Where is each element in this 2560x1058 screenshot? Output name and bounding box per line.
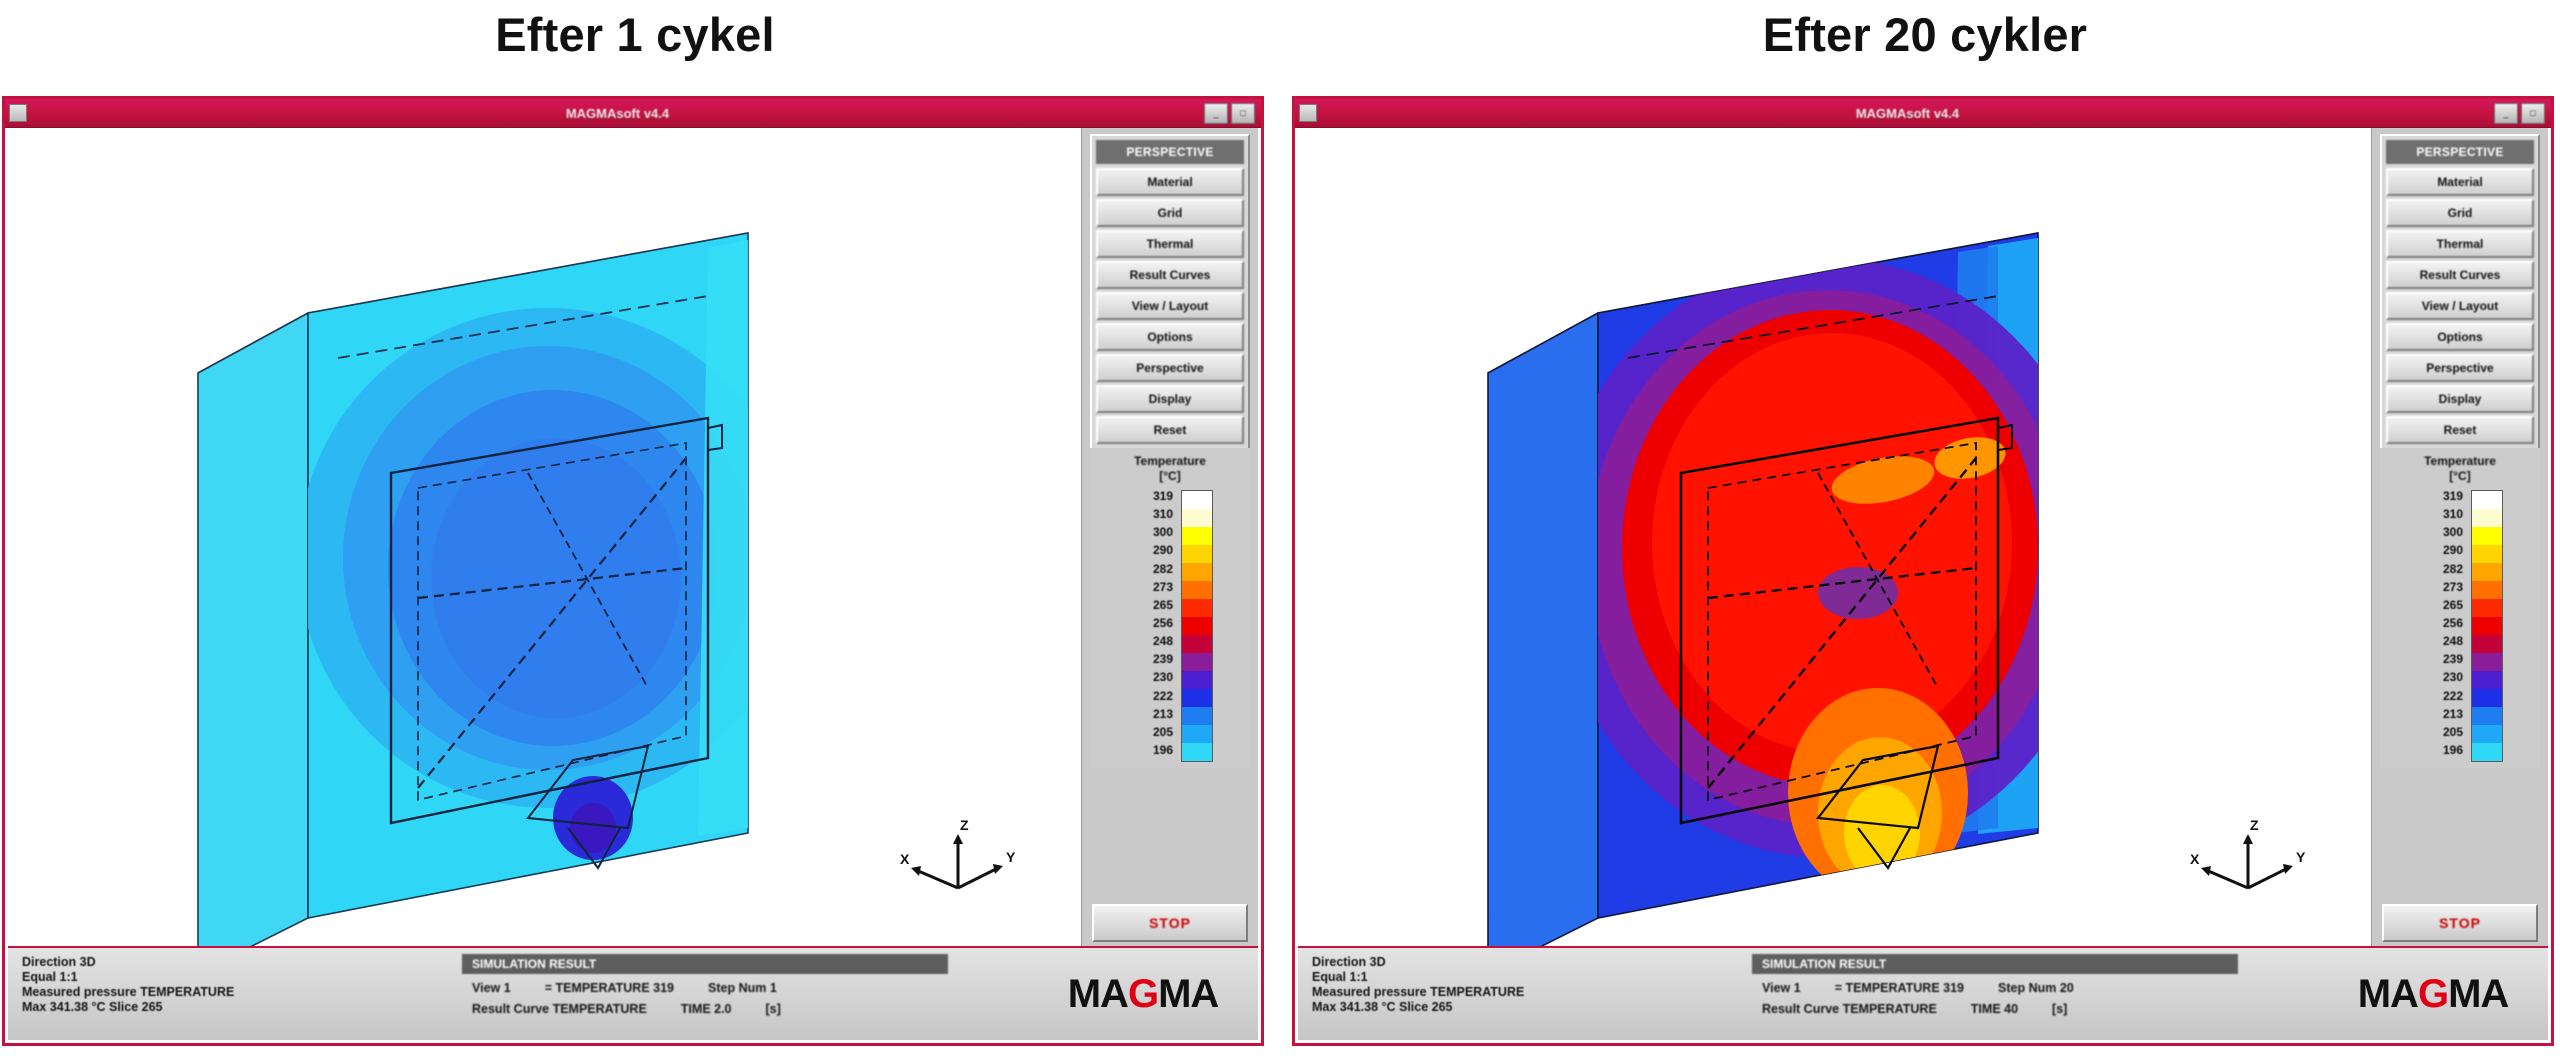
right-slide-caption: Efter 20 cykler xyxy=(1290,6,2560,64)
tool-column-right: PERSPECTIVE Material Grid Thermal Result… xyxy=(2371,128,2548,948)
legend-tick: 248 xyxy=(2417,635,2463,653)
menu-button-result-curves[interactable]: Result Curves xyxy=(1096,261,1244,289)
menu-panel-right: PERSPECTIVE Material Grid Thermal Result… xyxy=(2380,134,2540,455)
legend-tick: 248 xyxy=(1127,635,1173,653)
legend-color-segment xyxy=(1182,653,1212,671)
legend-color-segment xyxy=(2472,707,2502,725)
menu-button-material[interactable]: Material xyxy=(2386,168,2534,196)
slide-root: Efter 1 cykel Efter 20 cykler MAGMAsoft … xyxy=(0,0,2560,1058)
legend-tick: 282 xyxy=(2417,563,2463,581)
legend-color-segment xyxy=(1182,725,1212,743)
menu-button-view-layout[interactable]: View / Layout xyxy=(1096,292,1244,320)
svg-text:X: X xyxy=(2190,851,2200,867)
legend-tick: 205 xyxy=(2417,726,2463,744)
stop-button-label: STOP xyxy=(1149,915,1191,931)
menu-button-thermal[interactable]: Thermal xyxy=(2386,230,2534,258)
legend-color-segment xyxy=(2472,743,2502,761)
magma-window-right: MAGMAsoft v4.4 _ □ xyxy=(1292,96,2554,1046)
legend-tick-labels: 3193103002902822732652562482392302222132… xyxy=(2417,490,2463,762)
status-field: [s] xyxy=(2052,1002,2067,1016)
window-controls-left: _ □ xyxy=(1204,103,1255,124)
magma-window-left: MAGMAsoft v4.4 _ □ xyxy=(2,96,1264,1046)
logo-part-post: MA xyxy=(1158,972,1218,1017)
statusbar-right: Direction 3D Equal 1:1 Measured pressure… xyxy=(1298,946,2548,1040)
status-line: Max 341.38 °C Slice 265 xyxy=(22,1000,462,1015)
legend-colorbar xyxy=(2471,490,2503,762)
menu-panel-left: PERSPECTIVE Material Grid Thermal Result… xyxy=(1090,134,1250,455)
menu-button-perspective[interactable]: Perspective xyxy=(2386,354,2534,382)
status-field: Step Num 20 xyxy=(1998,981,2074,995)
magma-logo-right: MAGMA xyxy=(2318,948,2548,1040)
viewport-left[interactable]: Z X Y xyxy=(8,128,1080,958)
legend-color-segment xyxy=(2472,599,2502,617)
status-field: TIME 2.0 xyxy=(681,1002,732,1016)
temperature-contour-hot: Z X Y xyxy=(1298,128,2370,958)
logo-part-post: MA xyxy=(2448,972,2508,1017)
legend-color-segment xyxy=(2472,491,2502,509)
menu-button-result-curves[interactable]: Result Curves xyxy=(2386,261,2534,289)
window-title-left: MAGMAsoft v4.4 xyxy=(31,106,1204,121)
legend-tick: 222 xyxy=(1127,690,1173,708)
statusbar-result-right: SIMULATION RESULT View 1 = TEMPERATURE 3… xyxy=(1752,948,2318,1040)
legend-color-segment xyxy=(1182,563,1212,581)
legend-color-segment xyxy=(1182,545,1212,563)
legend-color-segment xyxy=(2472,527,2502,545)
menu-button-grid[interactable]: Grid xyxy=(1096,199,1244,227)
legend-tick: 213 xyxy=(2417,708,2463,726)
status-line: Direction 3D xyxy=(1312,955,1752,970)
minimize-icon[interactable]: _ xyxy=(2494,103,2518,124)
legend-title-line1: Temperature xyxy=(1094,454,1246,469)
statusbar-result-left: SIMULATION RESULT View 1 = TEMPERATURE 3… xyxy=(462,948,1028,1040)
magma-logo-left: MAGMA xyxy=(1028,948,1258,1040)
menu-button-reset[interactable]: Reset xyxy=(1096,416,1244,444)
svg-text:Z: Z xyxy=(2250,817,2259,833)
legend-tick: 239 xyxy=(1127,653,1173,671)
status-field: View 1 xyxy=(1762,981,1801,995)
menu-button-options[interactable]: Options xyxy=(2386,323,2534,351)
status-line: Measured pressure TEMPERATURE xyxy=(22,985,462,1000)
tool-column-left: PERSPECTIVE Material Grid Thermal Result… xyxy=(1081,128,1258,948)
legend-color-segment xyxy=(1182,671,1212,689)
svg-text:Y: Y xyxy=(2296,849,2306,865)
statusbar-info-left: Direction 3D Equal 1:1 Measured pressure… xyxy=(8,948,462,1040)
legend-tick: 205 xyxy=(1127,726,1173,744)
statusbar-row-1: View 1 = TEMPERATURE 319 Step Num 20 xyxy=(1752,981,2318,995)
legend-tick: 256 xyxy=(1127,617,1173,635)
legend-tick: 239 xyxy=(2417,653,2463,671)
titlebar-left[interactable]: MAGMAsoft v4.4 _ □ xyxy=(5,99,1261,128)
legend-tick: 230 xyxy=(2417,671,2463,689)
statusbar-section-title: SIMULATION RESULT xyxy=(1752,954,2238,974)
status-field: TIME 40 xyxy=(1971,1002,2018,1016)
left-slide-caption: Efter 1 cykel xyxy=(0,6,1270,64)
legend-tick: 300 xyxy=(1127,526,1173,544)
menu-button-perspective[interactable]: Perspective xyxy=(1096,354,1244,382)
legend-tick: 256 xyxy=(2417,617,2463,635)
statusbar-info-right: Direction 3D Equal 1:1 Measured pressure… xyxy=(1298,948,1752,1040)
legend-tick: 290 xyxy=(2417,544,2463,562)
legend-color-segment xyxy=(2472,617,2502,635)
menu-button-options[interactable]: Options xyxy=(1096,323,1244,351)
minimize-icon[interactable]: _ xyxy=(1204,103,1228,124)
legend-color-segment xyxy=(1182,491,1212,509)
legend-color-segment xyxy=(1182,581,1212,599)
color-legend-right: Temperature [°C] 31931030029028227326525… xyxy=(2380,448,2540,768)
menu-button-grid[interactable]: Grid xyxy=(2386,199,2534,227)
titlebar-right[interactable]: MAGMAsoft v4.4 _ □ xyxy=(1295,99,2551,128)
legend-color-segment xyxy=(1182,743,1212,761)
status-field: = TEMPERATURE 319 xyxy=(545,981,674,995)
legend-title-line2: [°C] xyxy=(2384,469,2536,484)
logo-part-pre: MA xyxy=(2358,972,2418,1017)
axis-triad-right: Z X Y xyxy=(2190,817,2306,888)
legend-tick: 265 xyxy=(2417,599,2463,617)
maximize-icon[interactable]: □ xyxy=(2521,103,2545,124)
temperature-contour-cool: Z X Y xyxy=(8,128,1080,958)
stop-button-right[interactable]: STOP xyxy=(2382,904,2538,942)
logo-part-highlight: G xyxy=(2418,972,2448,1017)
axis-triad-left: Z X Y xyxy=(900,817,1016,888)
logo-part-highlight: G xyxy=(1128,972,1158,1017)
legend-tick: 273 xyxy=(2417,581,2463,599)
legend-tick: 290 xyxy=(1127,544,1173,562)
legend-color-segment xyxy=(2472,725,2502,743)
legend-color-segment xyxy=(2472,653,2502,671)
status-line: Max 341.38 °C Slice 265 xyxy=(1312,1000,1752,1015)
status-line: Equal 1:1 xyxy=(22,970,462,985)
legend-tick: 273 xyxy=(1127,581,1173,599)
status-field: = TEMPERATURE 319 xyxy=(1835,981,1964,995)
legend-tick: 310 xyxy=(2417,508,2463,526)
status-line: Direction 3D xyxy=(22,955,462,970)
legend-tick-labels: 3193103002902822732652562482392302222132… xyxy=(1127,490,1173,762)
legend-tick: 265 xyxy=(1127,599,1173,617)
legend-color-segment xyxy=(1182,527,1212,545)
statusbar-left: Direction 3D Equal 1:1 Measured pressure… xyxy=(8,946,1258,1040)
statusbar-section-title: SIMULATION RESULT xyxy=(462,954,948,974)
viewport-right[interactable]: Z X Y xyxy=(1298,128,2370,958)
menu-button-material[interactable]: Material xyxy=(1096,168,1244,196)
legend-tick: 230 xyxy=(1127,671,1173,689)
stop-button-left[interactable]: STOP xyxy=(1092,904,1248,942)
legend-color-segment xyxy=(1182,707,1212,725)
system-menu-icon[interactable] xyxy=(9,104,27,122)
legend-color-segment xyxy=(1182,635,1212,653)
statusbar-row-2: Result Curve TEMPERATURE TIME 2.0 [s] xyxy=(462,1002,1028,1016)
legend-colorbar xyxy=(1181,490,1213,762)
window-title-right: MAGMAsoft v4.4 xyxy=(1321,106,2494,121)
system-menu-icon[interactable] xyxy=(1299,104,1317,122)
status-line: Equal 1:1 xyxy=(1312,970,1752,985)
window-controls-right: _ □ xyxy=(2494,103,2545,124)
legend-color-segment xyxy=(2472,689,2502,707)
legend-tick: 300 xyxy=(2417,526,2463,544)
legend-color-segment xyxy=(2472,545,2502,563)
legend-color-segment xyxy=(1182,599,1212,617)
legend-color-segment xyxy=(1182,689,1212,707)
menu-button-reset[interactable]: Reset xyxy=(2386,416,2534,444)
legend-color-segment xyxy=(2472,635,2502,653)
legend-color-segment xyxy=(2472,581,2502,599)
maximize-icon[interactable]: □ xyxy=(1231,103,1255,124)
logo-part-pre: MA xyxy=(1068,972,1128,1017)
status-field: Result Curve TEMPERATURE xyxy=(472,1002,647,1016)
legend-color-segment xyxy=(1182,509,1212,527)
status-line: Measured pressure TEMPERATURE xyxy=(1312,985,1752,1000)
menu-button-display[interactable]: Display xyxy=(1096,385,1244,413)
legend-tick: 319 xyxy=(2417,490,2463,508)
status-field: View 1 xyxy=(472,981,511,995)
stop-button-label: STOP xyxy=(2439,915,2481,931)
status-field: Result Curve TEMPERATURE xyxy=(1762,1002,1937,1016)
svg-text:Z: Z xyxy=(960,817,969,833)
legend-color-segment xyxy=(2472,563,2502,581)
legend-color-segment xyxy=(2472,509,2502,527)
legend-tick: 196 xyxy=(1127,744,1173,762)
legend-tick: 310 xyxy=(1127,508,1173,526)
color-legend-left: Temperature [°C] 31931030029028227326525… xyxy=(1090,448,1250,768)
svg-text:Y: Y xyxy=(1006,849,1016,865)
legend-color-segment xyxy=(2472,671,2502,689)
status-field: Step Num 1 xyxy=(708,981,777,995)
menu-button-thermal[interactable]: Thermal xyxy=(1096,230,1244,258)
statusbar-row-2: Result Curve TEMPERATURE TIME 40 [s] xyxy=(1752,1002,2318,1016)
legend-tick: 319 xyxy=(1127,490,1173,508)
statusbar-row-1: View 1 = TEMPERATURE 319 Step Num 1 xyxy=(462,981,1028,995)
menu-button-display[interactable]: Display xyxy=(2386,385,2534,413)
legend-title-line2: [°C] xyxy=(1094,469,1246,484)
legend-tick: 222 xyxy=(2417,690,2463,708)
menu-header: PERSPECTIVE xyxy=(1096,140,1244,164)
legend-color-segment xyxy=(1182,617,1212,635)
status-field: [s] xyxy=(766,1002,781,1016)
legend-tick: 282 xyxy=(1127,563,1173,581)
legend-title-line1: Temperature xyxy=(2384,454,2536,469)
legend-tick: 196 xyxy=(2417,744,2463,762)
svg-text:X: X xyxy=(900,851,910,867)
legend-tick: 213 xyxy=(1127,708,1173,726)
menu-header: PERSPECTIVE xyxy=(2386,140,2534,164)
menu-button-view-layout[interactable]: View / Layout xyxy=(2386,292,2534,320)
